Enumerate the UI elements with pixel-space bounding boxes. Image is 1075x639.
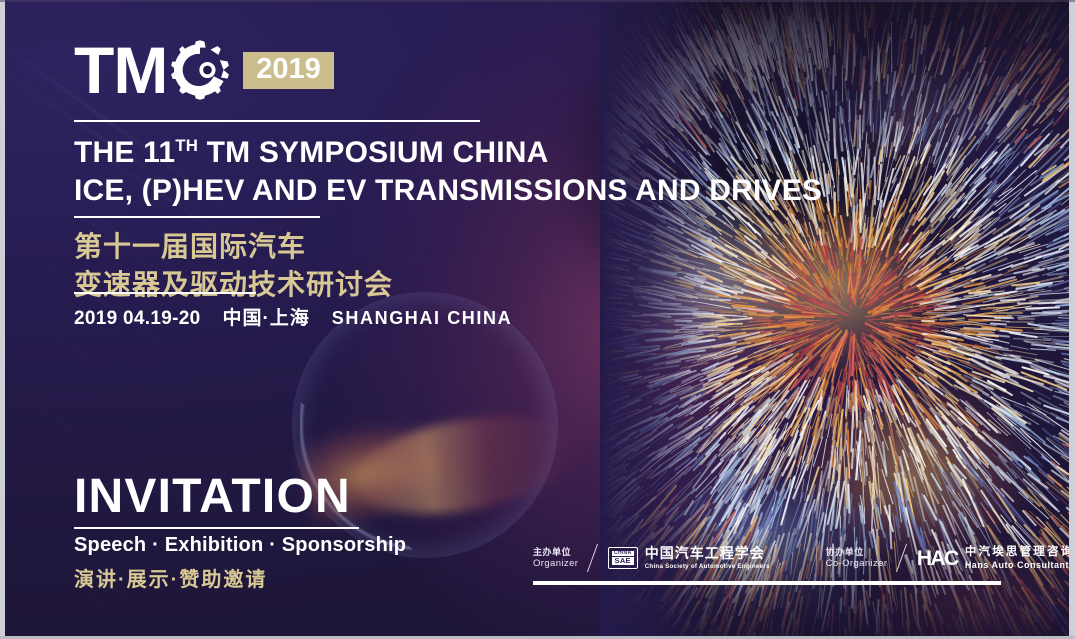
tmc-wordmark: TM	[74, 37, 231, 103]
divider-above-date	[74, 292, 256, 294]
divider-under-logo	[74, 120, 480, 122]
hac-name: 中汽埃思管理咨询 Hans Auto Consultant	[965, 546, 1075, 571]
co-organizer-label-english: Co-Organizer	[826, 558, 888, 571]
co-organizer-block: 协办单位 Co-Organizer HAC 中汽埃思管理咨询 Hans Auto…	[826, 543, 1075, 573]
event-location-english: SHANGHAI CHINA	[332, 308, 512, 329]
organizer-label: 主办单位 Organizer	[533, 546, 578, 571]
organizer-block: 主办单位 Organizer CHINA SAE 中国汽车工程学会 China …	[533, 543, 770, 573]
invitation-subtitle-english: Speech · Exhibition · Sponsorship	[74, 534, 406, 557]
hac-name-chinese: 中汽埃思管理咨询	[965, 546, 1075, 559]
co-organizer-label: 协办单位 Co-Organizer	[826, 546, 888, 571]
sae-name-english: China Society of Automotive Engineers	[645, 563, 770, 570]
organizer-label-english: Organizer	[533, 558, 578, 571]
hac-logo-icon: HAC	[917, 548, 958, 569]
footer-logos: 主办单位 Organizer CHINA SAE 中国汽车工程学会 China …	[533, 543, 1074, 573]
footer-divider	[533, 581, 1001, 585]
event-date: 2019 04.19-20	[74, 308, 200, 330]
co-organizer-label-chinese: 协办单位	[826, 546, 888, 558]
organizer-slash-divider	[587, 544, 599, 573]
invitation-subtitle-chinese: 演讲·展示·赞助邀请	[74, 563, 267, 592]
divider-above-chinese-title	[74, 216, 320, 218]
top-edge-strip	[0, 0, 1075, 2]
left-edge-strip	[0, 0, 5, 639]
gear-icon	[169, 39, 231, 101]
tmc-letters: TM	[74, 37, 167, 103]
brand-lockup: TM	[74, 37, 334, 103]
invitation-heading: INVITATION	[74, 473, 351, 521]
divider-under-invitation	[74, 527, 359, 529]
title-english-line1: THE 11TH TM SYMPOSIUM CHINA	[74, 134, 822, 172]
co-organizer-slash-divider	[896, 544, 908, 573]
title-english-line2: ICE, (P)HEV AND EV TRANSMISSIONS AND DRI…	[74, 172, 822, 210]
hac-name-english: Hans Auto Consultant	[965, 560, 1075, 570]
poster-canvas: TM	[0, 0, 1075, 639]
right-edge-strip	[1069, 0, 1075, 639]
organizer-label-chinese: 主办单位	[533, 546, 578, 558]
sae-name-chinese: 中国汽车工程学会	[645, 546, 770, 561]
sae-china-name: 中国汽车工程学会 China Society of Automotive Eng…	[645, 546, 770, 570]
sae-mark-bottom: SAE	[612, 557, 634, 565]
event-location-chinese: 中国·上海	[222, 303, 309, 330]
sae-mark-top: CHINA	[612, 551, 634, 556]
title-chinese-line2: 变速器及驱动技术研讨会	[74, 266, 393, 304]
title-english: THE 11TH TM SYMPOSIUM CHINA ICE, (P)HEV …	[74, 134, 822, 211]
title-line1-head: THE 11	[74, 136, 175, 169]
title-line1-ordinal: TH	[175, 136, 198, 155]
date-location-row: 2019 04.19-20 中国·上海 SHANGHAI CHINA	[74, 303, 512, 330]
year-badge: 2019	[243, 52, 334, 89]
sae-china-logo-icon: CHINA SAE	[608, 547, 638, 569]
title-line1-tail: TM SYMPOSIUM CHINA	[198, 136, 548, 169]
title-chinese-line1: 第十一届国际汽车	[74, 228, 393, 266]
